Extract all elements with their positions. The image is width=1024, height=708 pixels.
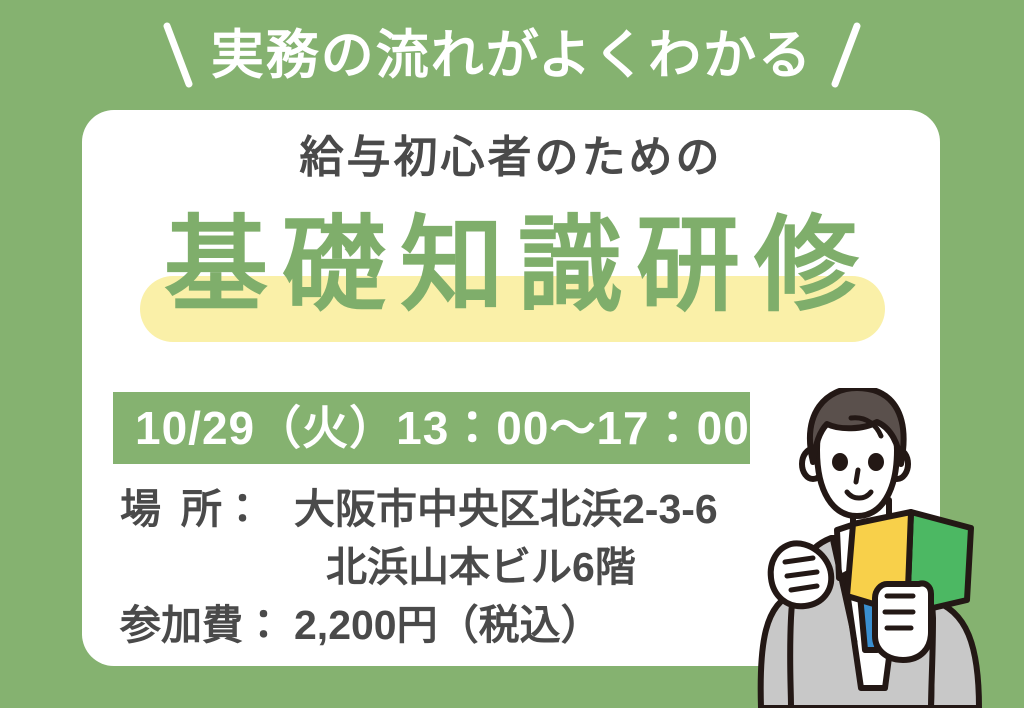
flyer-root: 実務の流れがよくわかる 給与初心者のための 基礎知識研修 10/29（火）13：…: [0, 0, 1024, 708]
backslash-stroke-icon: [163, 22, 193, 88]
detail-value-venue: 大阪市中央区北浜2-3-6: [294, 480, 718, 538]
detail-value-fee: 2,200円（税込）: [294, 596, 602, 654]
banner-headline: 実務の流れがよくわかる: [211, 29, 813, 82]
forwardslash-stroke-icon: [831, 22, 861, 88]
businessman-holding-folder-illustration: [735, 388, 1024, 708]
seminar-title-block: 基礎知識研修: [82, 208, 940, 358]
detail-value-venue-line2: 北浜山本ビル6階: [294, 538, 636, 596]
seminar-title: 基礎知識研修: [82, 208, 940, 324]
date-time-text: 10/29（火）13：00〜17：00: [113, 405, 750, 451]
seminar-subtitle: 給与初心者のための: [82, 136, 940, 180]
date-time-bar: 10/29（火）13：00〜17：00: [113, 392, 750, 464]
detail-label-venue: 場所：: [82, 480, 294, 538]
top-banner: 実務の流れがよくわかる: [0, 0, 1024, 110]
detail-label-fee: 参加費：: [82, 596, 294, 654]
